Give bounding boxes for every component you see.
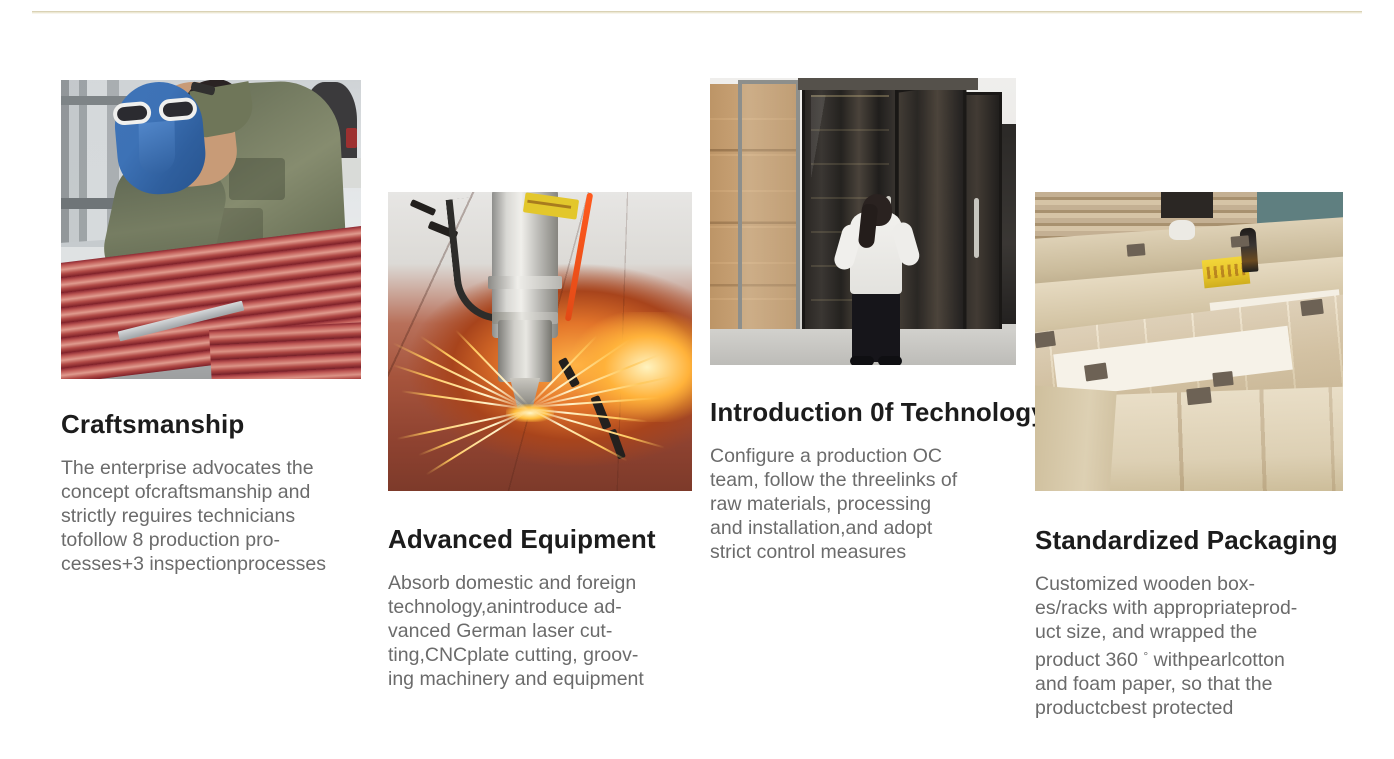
card-title-advanced-equipment: Advanced Equipment [388, 525, 692, 554]
card-title-standardized-packaging: Standardized Packaging [1035, 526, 1343, 555]
sparks-effect [388, 192, 692, 491]
card-body-advanced-equipment: Absorb domestic and foreign technology,a… [388, 571, 692, 691]
top-divider-rule [32, 11, 1362, 14]
card-body-standardized-packaging: Customized wooden box- es/racks with app… [1035, 572, 1347, 720]
door-showroom-inspection-photo [710, 78, 1016, 365]
feature-column-craftsmanship: Craftsmanship The enterprise advocates t… [61, 80, 361, 576]
card-title-introduction-of-technology: Introduction 0f Technology [710, 398, 1016, 427]
card-body-introduction-of-technology: Configure a production OC team, follow t… [710, 444, 1010, 564]
worker-marking-steel-sheets-photo [61, 80, 361, 379]
feature-column-advanced-equipment: Advanced Equipment Absorb domestic and f… [388, 192, 692, 691]
slide-canvas: Craftsmanship The enterprise advocates t… [0, 0, 1394, 759]
feature-column-standardized-packaging: Standardized Packaging Customized wooden… [1035, 192, 1343, 720]
wooden-crate-packaging-photo [1035, 192, 1343, 491]
laser-cutting-machine-photo [388, 192, 692, 491]
feature-column-introduction-of-technology: Introduction 0f Technology Configure a p… [710, 78, 1016, 564]
card-title-craftsmanship: Craftsmanship [61, 410, 361, 439]
card-body-craftsmanship: The enterprise advocates the concept ofc… [61, 456, 361, 576]
